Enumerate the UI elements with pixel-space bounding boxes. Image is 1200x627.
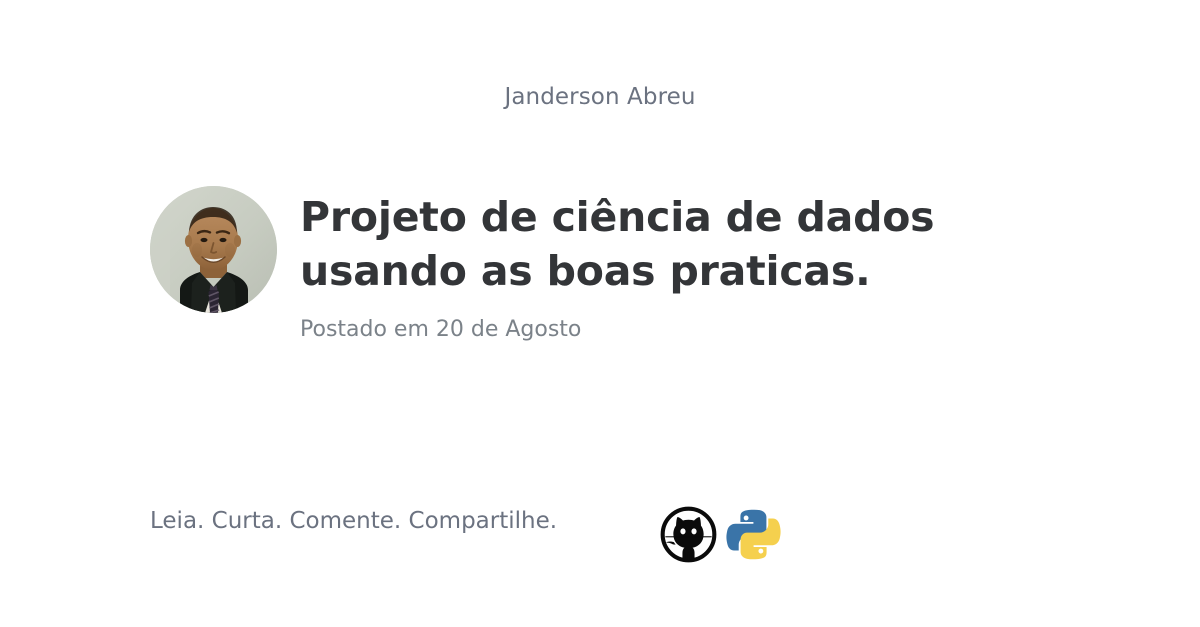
post-text: Projeto de ciência de dados usando as bo… [300, 186, 940, 344]
footer-icons [660, 506, 782, 563]
post-header: Projeto de ciência de dados usando as bo… [150, 186, 940, 344]
python-icon[interactable] [725, 506, 782, 563]
author-line: Janderson Abreu [0, 84, 1200, 112]
post-card: Janderson Abreu [0, 0, 1200, 627]
github-icon[interactable] [660, 506, 717, 563]
post-title: Projeto de ciência de dados usando as bo… [300, 190, 940, 298]
author-name: Janderson Abreu [504, 84, 695, 110]
footer: Leia. Curta. Comente. Compartilhe. [150, 508, 810, 536]
post-date: Postado em 20 de Agosto [300, 317, 940, 343]
footer-tagline: Leia. Curta. Comente. Compartilhe. [150, 508, 557, 536]
avatar [150, 186, 277, 313]
